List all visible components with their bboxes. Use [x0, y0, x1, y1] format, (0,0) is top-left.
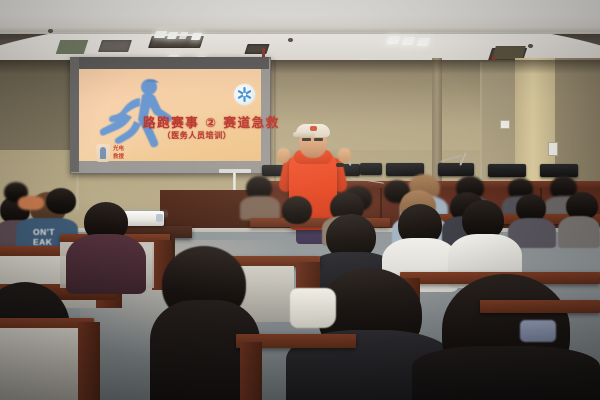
photo-tone-curve: [0, 0, 600, 400]
photo-scene: 路跑赛事 ② 赛道急救 （医务人员培训） 光电 救援: [0, 0, 600, 400]
